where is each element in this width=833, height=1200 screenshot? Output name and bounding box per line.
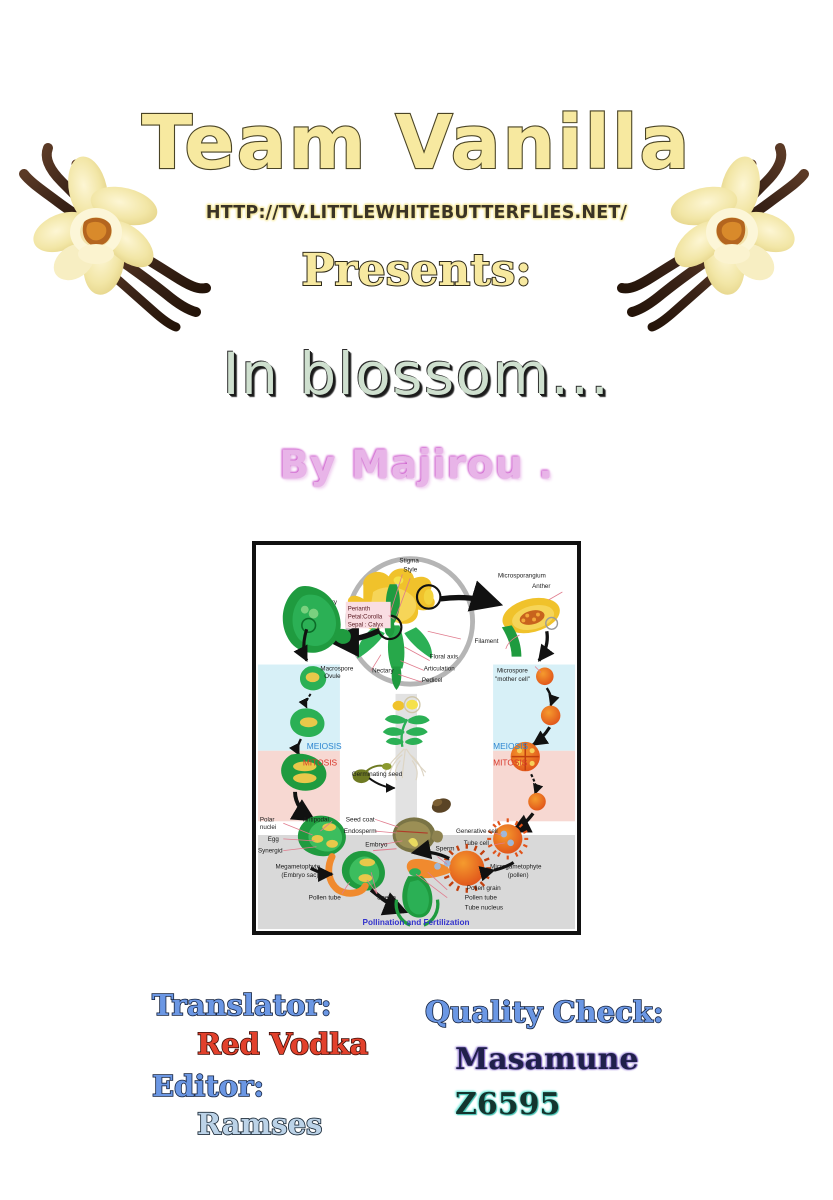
- label-polar-nuclei-1: Polar: [260, 816, 275, 823]
- label-germinating-seed: Germinating seed: [352, 771, 403, 778]
- label-seed-coat: Seed coat: [346, 816, 375, 823]
- label-perianth: Perianth: [348, 607, 370, 613]
- label-meiosis-right: MEIOSIS: [493, 741, 528, 751]
- label-generative-cell: Generative cell: [456, 828, 498, 835]
- label-sperm-left: Sperm: [377, 895, 396, 902]
- translator-role-label: Translator:: [152, 988, 331, 1022]
- presents-label: Presents:: [0, 243, 833, 298]
- label-style: Style: [403, 566, 417, 573]
- label-ovule: Ovule: [324, 673, 341, 680]
- angiosperm-lifecycle-diagram: Perianth Petal:Corolla Sepal : Calyx Sti…: [252, 541, 581, 935]
- quality-check-name-1: Masamune: [455, 1042, 638, 1077]
- label-macrospore: Macrospore: [320, 665, 353, 672]
- label-nectary: Nectary: [372, 667, 394, 674]
- label-mitosis-left: MITOSIS: [303, 757, 338, 767]
- label-microsporangium: Microsporangium: [498, 572, 546, 579]
- label-microspore-2: "mother cell": [495, 676, 530, 683]
- label-antipodal: Antipodal: [303, 816, 329, 823]
- label-egg: Egg: [268, 836, 280, 843]
- label-pollen-tube-left: Pollen tube: [309, 895, 342, 902]
- label-embryo: Embryo: [365, 842, 388, 849]
- label-floral-axis: Floral axis: [430, 654, 458, 661]
- team-name-title: Team Vanilla: [0, 106, 833, 180]
- label-pollen-grain: Pollen grain: [467, 885, 501, 892]
- label-petal-corolla: Petal:Corolla: [348, 614, 383, 620]
- label-sperm-right: Sperm: [436, 846, 455, 853]
- diagram-caption: Pollination and Fertilization: [363, 918, 470, 927]
- label-stigma: Stigma: [399, 558, 419, 565]
- quality-check-role-label: Quality Check:: [425, 995, 664, 1029]
- label-tube-nucleus: Tube nucleus: [465, 904, 503, 911]
- label-polar-nuclei-2: nuclei: [260, 824, 276, 831]
- label-endosperm: Endosperm: [344, 828, 377, 835]
- header-block: Team Vanilla HTTP://TV.LITTLEWHITEBUTTER…: [0, 0, 833, 320]
- label-microspore-1: Microspore: [497, 667, 528, 674]
- label-filament: Filament: [475, 638, 499, 645]
- editor-name: Ramses: [197, 1107, 322, 1141]
- credits-block: Translator: Red Vodka Editor: Ramses Qua…: [0, 970, 833, 1160]
- label-articulation: Articulation: [424, 665, 455, 672]
- label-megametophyte-2: (Embryo sac): [281, 872, 318, 879]
- site-url-text[interactable]: HTTP://TV.LITTLEWHITEBUTTERFLIES.NET/: [0, 203, 833, 223]
- translator-name: Red Vodka: [197, 1027, 368, 1061]
- label-sepal-calyx: Sepal : Calyx: [348, 622, 384, 628]
- label-anther: Anther: [532, 583, 550, 590]
- label-pedicel: Pedicel: [422, 677, 442, 684]
- label-synergid: Synergid: [258, 848, 283, 855]
- story-title: In blossom...: [0, 345, 833, 403]
- story-author: By Majirou .: [0, 446, 833, 485]
- label-pollen-tube-right: Pollen tube: [465, 895, 498, 902]
- label-mitosis-right: MITOSIS: [493, 757, 528, 767]
- label-microgametophyte-2: (pollen): [508, 872, 529, 879]
- quality-check-name-2: Z6595: [455, 1087, 560, 1122]
- editor-role-label: Editor:: [152, 1069, 264, 1103]
- label-meiosis-left: MEIOSIS: [307, 741, 342, 751]
